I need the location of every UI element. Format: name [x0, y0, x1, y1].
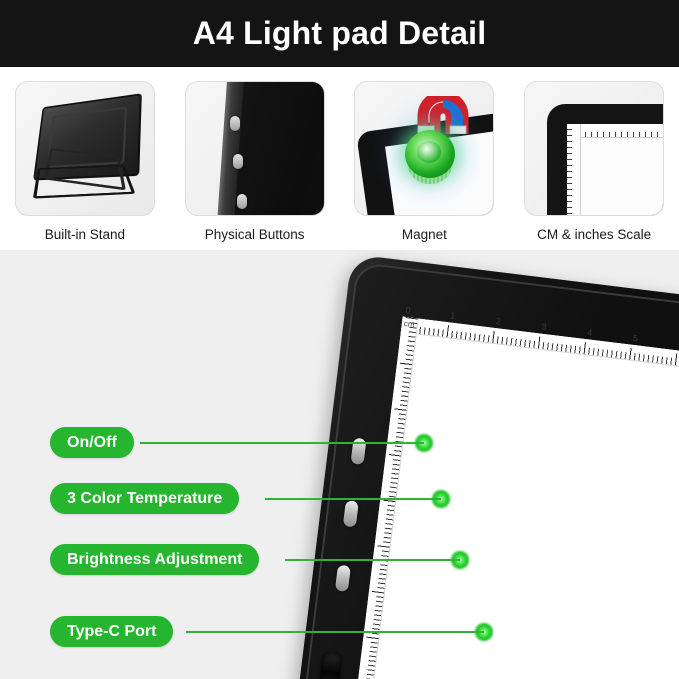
tablet-with-kickstand-icon: [15, 81, 155, 216]
product-hero-area: 0 1 2 3 4 5 6 7 8 9 cm: [0, 250, 679, 679]
horseshoe-magnet-icon: [354, 81, 494, 216]
feature-card-caption: Built-in Stand: [45, 227, 125, 242]
feature-cards-panel: Built-in Stand Physical Buttons: [0, 67, 679, 271]
callout-color-temperature[interactable]: 3 Color Temperature: [50, 483, 239, 514]
callout-brightness[interactable]: Brightness Adjustment: [50, 544, 259, 575]
callout-type-c-port[interactable]: Type-C Port: [50, 616, 173, 647]
page-title: A4 Light pad Detail: [193, 15, 487, 52]
magnet-glyph: [417, 96, 469, 134]
feature-card-magnet[interactable]: Magnet: [340, 67, 510, 242]
device-edge-buttons-icon: [185, 81, 325, 216]
feature-card-caption: CM & inches Scale: [537, 227, 651, 242]
connector-line-color-temperature: [265, 498, 441, 500]
feature-card-caption: Physical Buttons: [205, 227, 305, 242]
product-detail-page: A4 Light pad Detail Built-in Stand: [0, 0, 679, 679]
connector-line-power: [140, 442, 424, 444]
feature-card-built-in-stand[interactable]: Built-in Stand: [0, 67, 170, 242]
ruler-corner-icon: [524, 81, 664, 216]
feature-card-caption: Magnet: [402, 227, 447, 242]
connector-line-type-c: [186, 631, 484, 633]
header-banner: A4 Light pad Detail: [0, 0, 679, 67]
feature-cards-row: Built-in Stand Physical Buttons: [0, 67, 679, 242]
callout-on-off[interactable]: On/Off: [50, 427, 134, 458]
feature-card-physical-buttons[interactable]: Physical Buttons: [170, 67, 340, 242]
ruler-unit-label: cm: [403, 319, 415, 329]
light-pad-device: 0 1 2 3 4 5 6 7 8 9 cm: [295, 254, 679, 679]
feature-card-cm-inches-scale[interactable]: CM & inches Scale: [509, 67, 679, 242]
type-c-port[interactable]: [319, 651, 342, 679]
connector-line-brightness: [285, 559, 460, 561]
